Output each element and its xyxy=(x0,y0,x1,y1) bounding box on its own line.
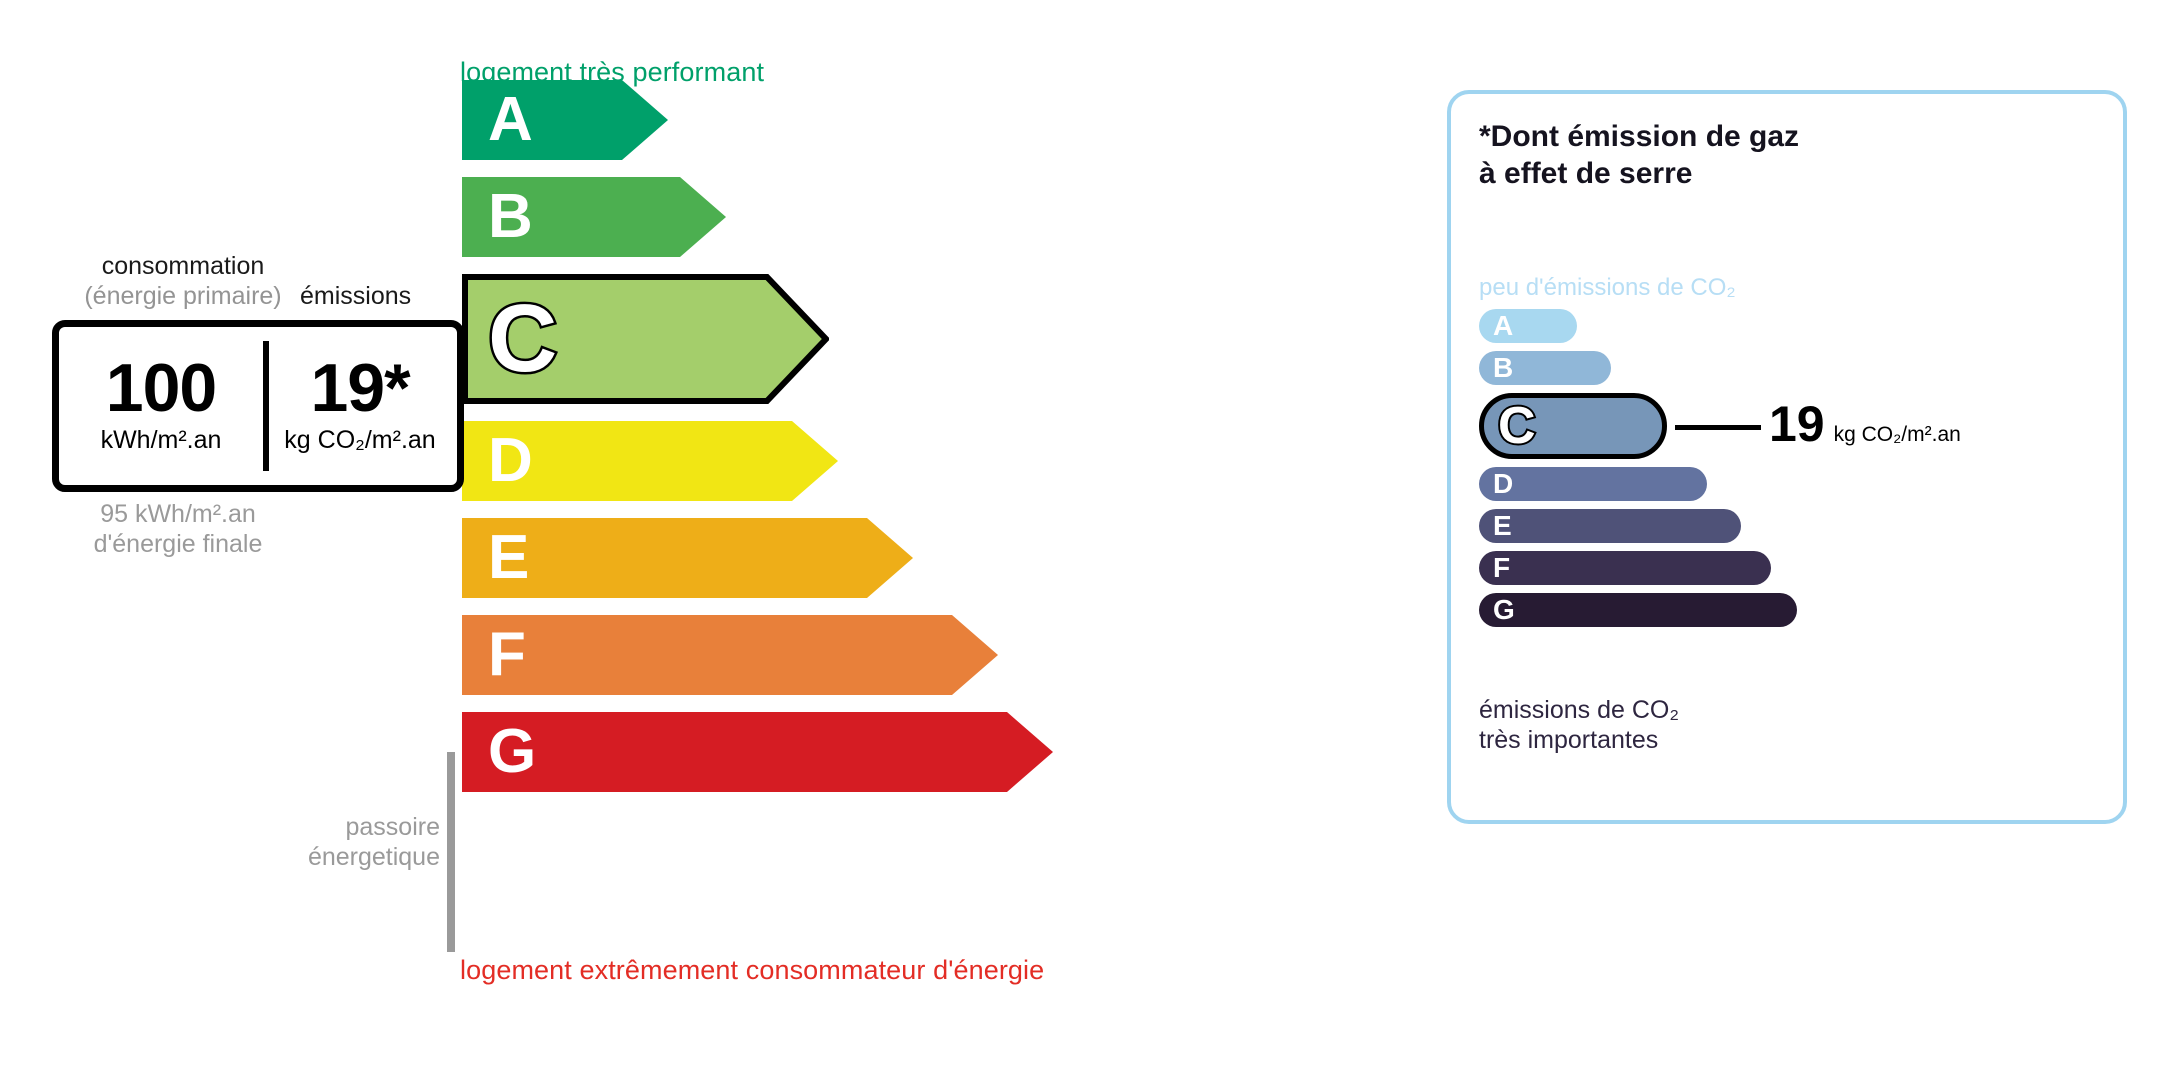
passoire-line1: passoire xyxy=(346,813,441,841)
label-consommation: consommation (énergie primaire) xyxy=(63,252,303,311)
ges-leader-line xyxy=(1675,425,1761,430)
label-emissions: émissions xyxy=(300,282,411,311)
label-consommation-line1: consommation xyxy=(102,252,265,280)
ges-caption-high-line1: émissions de CO₂ xyxy=(1479,696,1679,724)
ges-value-number: 19 xyxy=(1769,396,1825,452)
energy-value: 100 xyxy=(106,357,216,420)
energy-class-row-c: C xyxy=(462,274,1053,404)
ges-panel: *Dont émission de gaz à effet de serre p… xyxy=(1447,90,2127,824)
ges-class-bar-a: A xyxy=(1479,309,1577,343)
footnote-line1: 95 kWh/m².an xyxy=(100,500,256,528)
energy-class-row-d: D xyxy=(462,421,1053,501)
ges-class-letter-f: F xyxy=(1493,554,1510,582)
ges-panel-title: *Dont émission de gaz à effet de serre xyxy=(1479,119,1799,192)
ges-class-letter-e: E xyxy=(1493,512,1512,540)
energy-class-letter-d: D xyxy=(488,430,533,492)
energy-unit: kWh/m².an xyxy=(101,426,222,455)
ges-class-row-d: D xyxy=(1479,467,1797,501)
energy-class-arrow-b: B xyxy=(462,177,1053,257)
energy-class-row-g: G xyxy=(462,712,1053,792)
energy-class-row-b: B xyxy=(462,177,1053,257)
energy-class-arrows: ABCDEFG xyxy=(462,80,1053,809)
ges-value-callout: 19kg CO₂/m².an xyxy=(1769,399,1961,449)
energy-class-row-a: A xyxy=(462,80,1053,160)
ges-class-letter-a: A xyxy=(1493,312,1513,340)
ges-title-line2: à effet de serre xyxy=(1479,157,1692,190)
caption-bottom-consommateur: logement extrêmement consommateur d'éner… xyxy=(460,955,1044,986)
ges-class-bar-f: F xyxy=(1479,551,1771,585)
energy-class-letter-c: C xyxy=(488,291,557,387)
energy-class-arrow-e: E xyxy=(462,518,1053,598)
ges-caption-high: émissions de CO₂ très importantes xyxy=(1479,696,1679,755)
ges-caption-low: peu d'émissions de CO₂ xyxy=(1479,274,1736,302)
energy-class-arrow-c: C xyxy=(462,274,1053,404)
passoire-energetique-label: passoire énergetique xyxy=(235,812,440,872)
label-consommation-line2: (énergie primaire) xyxy=(84,282,281,310)
ges-class-letter-c: C xyxy=(1498,400,1536,452)
energy-final-footnote: 95 kWh/m².an d'énergie finale xyxy=(63,500,293,559)
footnote-line2: d'énergie finale xyxy=(94,530,263,558)
passoire-bracket-bar xyxy=(447,752,455,952)
energy-class-row-e: E xyxy=(462,518,1053,598)
co2-unit: kg CO₂/m².an xyxy=(284,426,435,455)
ges-class-bar-d: D xyxy=(1479,467,1707,501)
ges-class-bar-c: C xyxy=(1479,393,1667,459)
energy-class-letter-a: A xyxy=(488,89,533,151)
ges-caption-high-line2: très importantes xyxy=(1479,726,1658,754)
ges-class-row-b: B xyxy=(1479,351,1797,385)
energy-value-cell: 100 kWh/m².an xyxy=(59,327,263,485)
passoire-line2: énergetique xyxy=(308,843,440,871)
energy-class-letter-f: F xyxy=(488,624,526,686)
energy-class-row-f: F xyxy=(462,615,1053,695)
energy-class-arrow-d: D xyxy=(462,421,1053,501)
energy-class-letter-e: E xyxy=(488,527,529,589)
ges-class-row-c: C19kg CO₂/m².an xyxy=(1479,393,1797,459)
ges-class-row-e: E xyxy=(1479,509,1797,543)
ges-class-row-a: A xyxy=(1479,309,1797,343)
dpe-energy-label: logement très performant consommation (é… xyxy=(0,0,1400,1079)
co2-value: 19* xyxy=(310,357,409,420)
ges-value-unit: kg CO₂/m².an xyxy=(1834,423,1961,446)
value-box: 100 kWh/m².an 19* kg CO₂/m².an xyxy=(52,320,464,492)
ges-class-letter-d: D xyxy=(1493,470,1513,498)
energy-class-letter-b: B xyxy=(488,186,533,248)
ges-class-row-f: F xyxy=(1479,551,1797,585)
ges-class-bar-g: G xyxy=(1479,593,1797,627)
ges-class-bar-b: B xyxy=(1479,351,1611,385)
ges-class-bar-e: E xyxy=(1479,509,1741,543)
ges-class-row-g: G xyxy=(1479,593,1797,627)
ges-title-line1: *Dont émission de gaz xyxy=(1479,120,1799,153)
energy-class-arrow-f: F xyxy=(462,615,1053,695)
ges-class-bars: ABC19kg CO₂/m².anDEFG xyxy=(1479,309,1797,635)
energy-class-arrow-a: A xyxy=(462,80,1053,160)
ges-class-letter-g: G xyxy=(1493,596,1515,624)
energy-class-arrow-g: G xyxy=(462,712,1053,792)
co2-value-cell: 19* kg CO₂/m².an xyxy=(263,327,457,485)
ges-class-letter-b: B xyxy=(1493,354,1513,382)
energy-class-letter-g: G xyxy=(488,721,536,783)
